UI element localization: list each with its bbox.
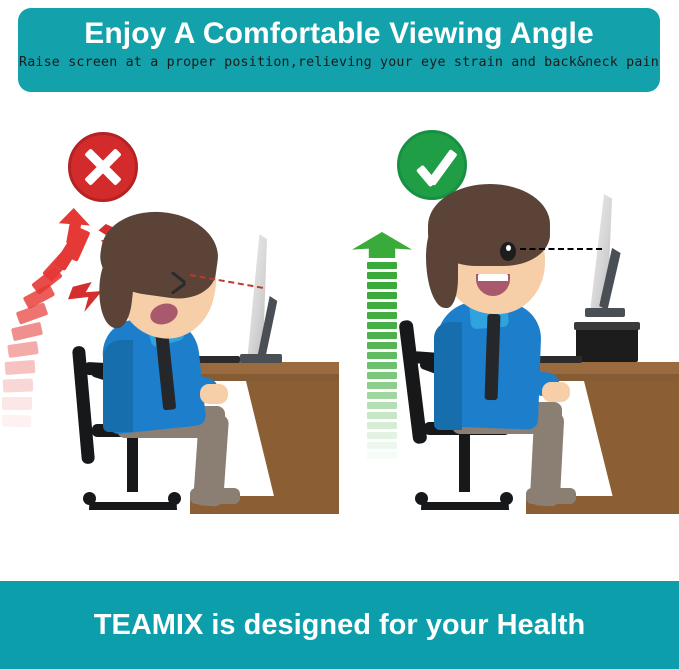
incorrect-posture-scene [0, 96, 339, 576]
person-back [103, 340, 133, 432]
monitor-riser-stand [576, 328, 638, 362]
person-shoe [526, 488, 576, 504]
lift-arrowhead [352, 232, 412, 258]
monitor-foot [585, 308, 625, 317]
headline-title: Enjoy A Comfortable Viewing Angle [84, 14, 593, 54]
top-banner: Enjoy A Comfortable Viewing Angle Raise … [18, 8, 660, 92]
chair-wheel-left [83, 492, 96, 505]
keyboard [194, 356, 240, 363]
desk-panel [246, 381, 339, 511]
chair-wheel-left [415, 492, 428, 505]
chair-base [89, 468, 177, 510]
person-hand [200, 384, 228, 404]
person-hair-side [426, 222, 458, 308]
person-shoe [190, 488, 240, 504]
monitor-foot [240, 354, 282, 363]
headline-subtitle: Raise screen at a proper position,reliev… [19, 55, 659, 70]
person-eye-highlight [506, 245, 511, 251]
monitor-riser-top [574, 322, 640, 330]
chair-base [421, 468, 509, 510]
chair-wheel-right [168, 492, 181, 505]
sight-line-level [520, 248, 602, 250]
brand-tagline: TEAMIX is designed for your Health [94, 609, 585, 642]
desk-panel [584, 381, 679, 511]
x-mark-icon [68, 132, 138, 202]
person-back [434, 322, 462, 430]
chair-wheel-right [500, 492, 513, 505]
illustration-stage [0, 96, 679, 576]
check-stroke-long [427, 149, 457, 186]
person-teeth [478, 274, 508, 281]
product-infographic: Enjoy A Comfortable Viewing Angle Raise … [0, 0, 679, 669]
correct-posture-scene [340, 96, 679, 576]
person-hand [542, 382, 570, 402]
keyboard [536, 356, 582, 363]
bottom-banner: TEAMIX is designed for your Health [0, 581, 679, 669]
